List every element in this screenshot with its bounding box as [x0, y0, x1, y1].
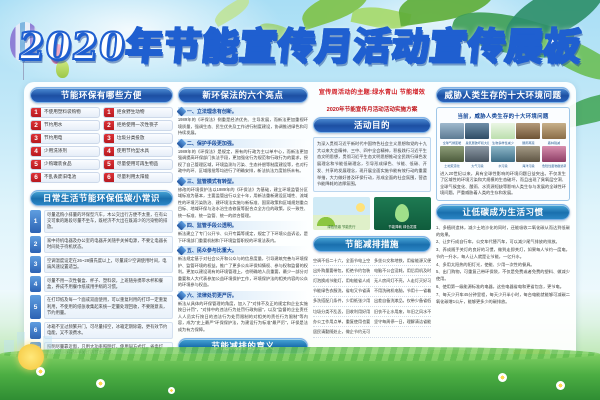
problem-photo-image	[440, 146, 464, 162]
diamond-bullet-icon	[176, 290, 186, 300]
chip-column-right: 1拒食野生动物2拒绝使用一次性筷子3垃圾分类投放4使用节约型水具5尽量使用可再生…	[103, 107, 173, 183]
tip-number: 1	[30, 210, 41, 233]
measure-row: 居民请勤随处止，做企节约无可无。	[313, 327, 431, 337]
daisy-icon	[498, 373, 507, 382]
chip-number: 1	[104, 107, 114, 118]
law-paragraph: 1989年的《环保法》是规定，原有的行政为主以单中心，而新法更加强调提高环保部门…	[178, 149, 308, 175]
law-highlights-list: 一、立法理念有创新。1989年的《环保法》侧重是经济优先、主导发展，而新法更加重…	[178, 107, 308, 333]
law-subheader: 一、立法理念有创新。	[178, 107, 308, 116]
chip-label: 尽量使用可再生物品	[117, 161, 158, 167]
measure-cell: 不用洗碗机电脑，节用十一省着点；	[374, 288, 431, 294]
column-new-env-law: 新环保法的六个亮点 一、立法理念有创新。1989年的《环保法》侧重是经济优先、主…	[178, 87, 308, 359]
numbered-chip: 2拒绝使用一次性筷子	[103, 120, 173, 131]
problems-description: 进入20世纪以来，具有全球性影响的环境问题日益突出。不仅发生了区域性的环境污染和…	[440, 171, 566, 197]
daisy-icon	[36, 367, 45, 376]
problem-photo-caption: 土地荒漠化	[440, 163, 464, 168]
numbered-chip: 3节约用电	[30, 133, 100, 144]
content-panel: 节能环保有哪些方便 1不使用塑料袋购物2节约用水3节约用电4少用洗涤剂5少购罐装…	[24, 82, 576, 364]
numbered-chip: 4少用洗涤剂	[30, 146, 100, 157]
numbered-chip: 6不乱丢废旧电池	[30, 172, 100, 183]
diamond-bullet-icon	[176, 176, 186, 186]
law-subheader-label: 四、监管手段公透明。	[187, 222, 237, 229]
section-header-convenience: 节能环保有哪些方便	[30, 87, 173, 103]
chip-number: 4	[104, 146, 114, 157]
poster-title-wrap: 2020年节能宣传月活动宣传展板	[0, 16, 600, 70]
measure-row: 出外购量要带包，拒绝节约包装袋：电脑不公会没耗，用后用机及时断；	[313, 266, 431, 276]
plan-title: 2020年节能宣传月活动活动实施方案	[313, 105, 431, 113]
chip-number: 6	[31, 172, 41, 183]
habit-item: 5、出门购物，可重复己带环保袋，不仅是免费或者免费的塑料、做减少使用。	[436, 268, 570, 282]
chip-label: 节约用电	[44, 135, 62, 141]
chip-number: 3	[104, 133, 114, 144]
habit-item: 6、使用第一级能源标准的电器，这些电器省电和更省包含，更节电。	[436, 283, 570, 290]
numbered-chip: 5尽量使用可再生物品	[103, 159, 173, 170]
problems-frame: 当前，威胁人类生存的十大环境问题 全球气候变暖臭氧层破坏和大损失生物多样性减少酸…	[436, 107, 570, 201]
measure-row: 办公工作用点单，重复使用也要好：坚守每周停一日，理解清洁省能源；	[313, 317, 431, 327]
poster-board: 2020年节能宣传月活动宣传展板 节能环保有哪些方便 1不使用塑料袋购物2节约用…	[0, 0, 600, 400]
law-subheader: 六、法律处罚更严厉。	[178, 291, 308, 300]
numbered-chip: 4使用节约型水具	[103, 146, 173, 157]
problem-photo-caption: 森林锐减	[542, 140, 566, 145]
problem-photo-grid: 全球气候变暖臭氧层破坏和大损失生物多样性减少酸雨蔓延森林锐减土地荒漠化大气污染水…	[440, 123, 566, 168]
tip-row: 5在打印纸及每一个面或双面使用，可以重复利用的打印一定重复利用，不使用的纸张收集…	[30, 295, 173, 318]
chip-label: 拒食野生动物	[117, 109, 145, 115]
grass-border	[0, 354, 600, 400]
measure-cell: 空调不低二十六，全面节电上空调：	[313, 258, 370, 264]
chip-label: 少购罐装食品	[44, 161, 72, 167]
numbered-chip: 6尽量利用太阳能	[103, 172, 173, 183]
measure-cell: 旧衣不让水用废，年旧之风水不易；	[374, 309, 431, 315]
tip-row: 1尽量选购小排量的环保型汽车，木公交出行方便不太重，在有公交可乘的路段尽量不坐车…	[30, 210, 173, 233]
section-header-ten-problems: 威胁人类生存的十大环境问题	[436, 87, 570, 103]
chip-number: 5	[104, 159, 114, 170]
diamond-bullet-icon	[176, 221, 186, 231]
problem-photo-image	[542, 123, 566, 139]
chip-number: 2	[104, 120, 114, 131]
problems-frame-title: 当前，威胁人类生存的十大环境问题	[440, 112, 566, 120]
measure-row: 垃圾分类不乱丢，回收利用好用生：旧衣不让水用废，年旧之风水不易；	[313, 307, 431, 317]
tip-text: 在打印纸及每一个面或双面使用，可以重复利用的打印一定重复利用，不使用的纸张收集起…	[44, 295, 173, 318]
tip-number: 3	[30, 256, 41, 273]
illustration-caption: 绿色低碳 节能先行	[313, 224, 370, 229]
measure-row: 节能绿色衣服洗，省电又节省清洁：不用洗碗机电脑，节用十一省着点；	[313, 287, 431, 297]
tip-row: 2家中待机电器及办公室的电器开关随手关掉电源，不要让电器长时间处于待机状态。	[30, 236, 173, 253]
law-subheader: 四、监管手段公透明。	[178, 221, 308, 230]
measure-cell: 多坐公交和地铁，用省能源又便捷；	[374, 258, 431, 264]
problem-photo-caption: 酸雨蔓延	[516, 140, 540, 145]
measure-cell: 办公工作用点单，重复使用也要好：	[313, 319, 370, 325]
problem-photo-caption: 臭氧层破坏和大损失	[465, 140, 489, 145]
illustration-row: 绿色低碳 节能先行 节能降耗 绿色发展	[313, 197, 431, 230]
measure-cell: 坚守每周停一日，理解清洁省能源；	[374, 319, 431, 325]
chip-label: 少用洗涤剂	[44, 148, 67, 154]
law-paragraph: 新法建立了专门公开节、公开专篇等规定，规定了下环境公益诉讼，是下环境部门重要机制…	[178, 231, 308, 244]
problem-photo-image	[491, 146, 515, 162]
problem-photo: 生物多样性减少	[491, 123, 515, 145]
section-header-daily-tips: 日常生活节能环保低碳小常识	[30, 190, 173, 206]
chip-label: 不乱丢废旧电池	[44, 174, 76, 180]
problem-photo-image	[465, 123, 489, 139]
problem-photo-caption: 生物多样性减少	[491, 140, 515, 145]
numbered-chip: 1不使用塑料袋购物	[30, 107, 100, 118]
illustration-leaf-poster: 节能降耗 绿色发展	[374, 197, 431, 230]
problem-photo: 土地荒漠化	[440, 146, 464, 168]
chip-label: 拒绝使用一次性筷子	[117, 122, 158, 128]
tip-text: 尽量选购小排量的环保型汽车，木公交出行方便不太重，在有公交可乘的路段尽量不坐车，…	[44, 210, 173, 233]
problem-photo: 臭氧层破坏和大损失	[465, 123, 489, 145]
measure-row: 灯泡换成节能灯，用电能省人成本：无人房间灯不亮，人走灯灭好习惯；	[313, 276, 431, 286]
tip-number: 4	[30, 276, 41, 293]
law-subheader: 五、民众参与比重大。	[178, 246, 308, 255]
measure-cell: 出外购量要带包，拒绝节约包装袋：	[313, 268, 370, 274]
problem-photo-caption: 海洋污染	[516, 163, 540, 168]
chip-number: 5	[31, 159, 41, 170]
problem-photo-image	[516, 123, 540, 139]
section-header-measures: 节能减排措施	[313, 236, 431, 252]
chip-label: 使用节约型水具	[117, 148, 149, 154]
illustration-green-city: 绿色低碳 节能先行	[313, 197, 370, 230]
measures-list: 空调不低二十六，全面节电上空调：多坐公交和地铁，用省能源又便捷；出外购量要带包，…	[313, 256, 431, 338]
poster-title: 2020年节能宣传月活动宣传展板	[16, 16, 585, 70]
chip-number: 1	[31, 107, 41, 118]
problem-photo-image	[440, 123, 464, 139]
low-carbon-habit-list: 1、多植树造林，减少土地沙化的同时，还能吸收二氧化碳从而达到低碳的效果。2、让步…	[436, 224, 570, 306]
problem-photo-caption: 大气污染	[465, 163, 489, 168]
measure-cell: 出差自备洗漱品，仅带少备省低碳；	[374, 298, 431, 304]
chip-label: 尽量利用太阳能	[117, 174, 149, 180]
chip-label: 节约用水	[44, 122, 62, 128]
law-subheader: 二、保护手段更加强。	[178, 139, 308, 148]
chip-number: 6	[104, 172, 114, 183]
tip-text: 尽量不用一次性餐盒、杯子、塑料袋，上班随身携带水杯和餐盒，养成不用餐巾纸或用手绢…	[44, 276, 173, 293]
problem-photo: 海洋污染	[516, 146, 540, 168]
problem-photo: 水污染	[491, 146, 515, 168]
illustration-caption: 节能降耗 绿色发展	[374, 224, 431, 229]
chip-number: 3	[31, 133, 41, 144]
habit-item: 1、多植树造林，减少土地沙化的同时，还能吸收二氧化碳从而达到低碳的效果。	[436, 224, 570, 238]
measure-cell	[374, 329, 431, 335]
diamond-bullet-icon	[176, 246, 186, 256]
chip-column-left: 1不使用塑料袋购物2节约用水3节约用电4少用洗涤剂5少购罐装食品6不乱丢废旧电池	[30, 107, 100, 183]
measure-cell: 电脑不公会没耗，用后用机及时断；	[374, 268, 431, 274]
tip-text: 空调温度设定在26~28摄氏度以上，尽量减少空调使用时间，电扇风速设置适当。	[44, 256, 173, 273]
chip-number: 2	[31, 120, 41, 131]
column-energy-basics: 节能环保有哪些方便 1不使用塑料袋购物2节约用水3节约用电4少用洗涤剂5少购罐装…	[30, 87, 173, 359]
law-subheader-label: 六、法律处罚更严厉。	[187, 292, 237, 299]
problem-photo: 森林锐减	[542, 123, 566, 145]
daisy-icon	[168, 387, 175, 394]
chip-label: 垃圾分类投放	[117, 135, 145, 141]
measure-cell: 居民请勤随处止，做企节约无可无。	[313, 329, 370, 335]
measure-row: 多洗搭配几条件，少用纸张少用电：出差自备洗漱品，仅带少备省低碳；	[313, 297, 431, 307]
chip-grid: 1不使用塑料袋购物2节约用水3节约用电4少用洗涤剂5少购罐装食品6不乱丢废旧电池…	[30, 107, 173, 183]
problem-photo: 大气污染	[465, 146, 489, 168]
tip-number: 5	[30, 295, 41, 318]
problem-photo: 酸雨蔓延	[516, 123, 540, 145]
problem-photo: 全球气候变暖	[440, 123, 464, 145]
section-header-low-carbon-habits: 让低碳成为生活习惯	[436, 204, 570, 220]
section-header-purpose: 活动目的	[313, 117, 431, 133]
problem-photo-image	[491, 123, 515, 139]
problem-photo-image	[465, 146, 489, 162]
theme-slogan: 宣传周活动的主题:绿水青山 节能增效	[313, 87, 431, 96]
daisy-icon	[96, 379, 105, 388]
law-paragraph: 修改的环境保护法以1989年的《环保法》为基础，建立环境监管分区域标准为基本，主…	[178, 187, 308, 220]
problem-photo-caption: 全球气候变暖	[440, 140, 464, 145]
law-paragraph: 新法从具体的环保管理的角度，加入了"对排不及正的规定和企业实施按日计罚"，"对排…	[178, 301, 308, 334]
law-subheader-label: 二、保护手段更加强。	[187, 140, 237, 147]
numbered-chip: 1拒食野生动物	[103, 107, 173, 118]
problem-photo: 危险性废物越境转移	[542, 146, 566, 168]
tip-row: 4尽量不用一次性餐盒、杯子、塑料袋，上班随身携带水杯和餐盒，养成不用餐巾纸或用手…	[30, 276, 173, 293]
law-subheader-label: 一、立法理念有创新。	[187, 108, 237, 115]
problem-photo-image	[542, 146, 566, 162]
tip-number: 2	[30, 236, 41, 253]
numbered-chip: 5少购罐装食品	[30, 159, 100, 170]
tip-row: 3空调温度设定在26~28摄氏度以上，尽量减少空调使用时间，电扇风速设置适当。	[30, 256, 173, 273]
problem-photo-image	[516, 146, 540, 162]
column-activity-plan: 宣传周活动的主题:绿水青山 节能增效 2020年节能宣传月活动活动实施方案 活动…	[313, 87, 431, 359]
daisy-icon	[556, 381, 565, 390]
chip-number: 4	[31, 146, 41, 157]
column-env-problems: 威胁人类生存的十大环境问题 当前，威胁人类生存的十大环境问题 全球气候变暖臭氧层…	[436, 87, 570, 359]
section-header-six-highlights: 新环保法的六个亮点	[178, 87, 308, 103]
diamond-bullet-icon	[176, 138, 186, 148]
diamond-bullet-icon	[176, 107, 186, 117]
law-subheader-label: 五、民众参与比重大。	[187, 247, 237, 254]
measure-cell: 垃圾分类不乱丢，回收利用好用生：	[313, 309, 370, 315]
chip-label: 不使用塑料袋购物	[44, 109, 81, 115]
measure-cell: 灯泡换成节能灯，用电能省人成本：	[313, 278, 370, 284]
habit-item: 2、让步行成自行车，公交车代替汽车，可以减少尾气排放的排放。	[436, 238, 570, 245]
habit-item: 7、每天少开车45分钟里程，每天少开半小时，每台电能就能够可减碳二氧化碳增1公斤…	[436, 291, 570, 305]
law-subheader: 三、监管模式有转型。	[178, 177, 308, 186]
measure-cell: 节能绿色衣服洗，省电又节省清洁：	[313, 288, 370, 294]
measure-row: 空调不低二十六，全面节电上空调：多坐公交和地铁，用省能源又便捷；	[313, 256, 431, 266]
measure-cell: 无人房间灯不亮，人走灯灭好习惯；	[374, 278, 431, 284]
law-subheader-label: 三、监管模式有转型。	[187, 178, 237, 185]
problem-photo-caption: 水污染	[491, 163, 515, 168]
problem-photo-caption: 危险性废物越境转移	[542, 163, 566, 168]
tip-text: 家中待机电器及办公室的电器开关随手关掉电源，不要让电器长时间处于待机状态。	[44, 236, 173, 253]
numbered-chip: 2节约用水	[30, 120, 100, 131]
numbered-chip: 3垃圾分类投放	[103, 133, 173, 144]
habit-item: 4、多用太阳热的阳灯光，使能、少用一次性的餐具。	[436, 261, 570, 268]
law-paragraph: 1989年的《环保法》侧重是经济优先、主导发展，而新法更加重视环境质量，强调生态…	[178, 117, 308, 137]
habit-item: 3、养成随手关灯的良好的习惯，做到走即关灯，如果每人节约一度电，节约一升水，每人…	[436, 246, 570, 260]
purpose-text: 为深入贯彻习近平新时代中国特色社会主义思想和党的十九大以来大会精神、三中、四中全…	[313, 137, 431, 192]
law-paragraph: 新法规定基于对社会公开和公众与的信息度量，引导建筑完善与环境保护、监管环境的权益…	[178, 256, 308, 289]
measure-cell: 多洗搭配几条件，少用纸张少用电：	[313, 298, 370, 304]
